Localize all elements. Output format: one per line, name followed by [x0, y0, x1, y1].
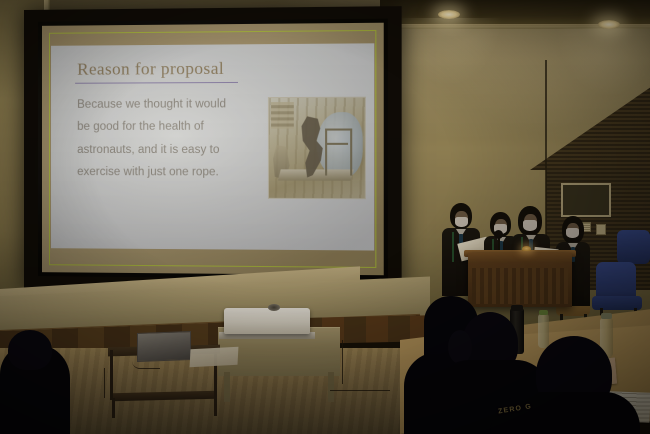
slide-body-text: Because we thought it would be good for … — [77, 93, 255, 184]
projection-screen-frame: Reason for proposal Because we thought i… — [24, 6, 402, 294]
ceiling-downlight-icon — [438, 10, 460, 19]
treadmill-rail — [325, 128, 352, 175]
cable — [104, 368, 131, 398]
cable — [316, 340, 343, 384]
slide-body-line: Because we thought it would — [77, 93, 255, 116]
face-mask — [566, 228, 579, 238]
projection-screen-surface: Reason for proposal Because we thought i… — [38, 19, 388, 280]
cable — [330, 382, 390, 391]
bottle-cap — [601, 313, 612, 319]
slide-content-area: Reason for proposal Because we thought i… — [51, 43, 374, 250]
desk-leg — [224, 372, 230, 402]
light-switch-icon[interactable] — [596, 224, 606, 235]
slide-body-line: be good for the health of — [77, 116, 255, 139]
plastic-bottle — [538, 314, 549, 348]
microphone-icon — [494, 230, 503, 239]
slide-title-underline — [75, 82, 238, 84]
treadmill-rail — [325, 143, 348, 145]
table-leg — [214, 396, 217, 416]
thermos-cap — [511, 305, 523, 311]
face-mask — [523, 220, 537, 231]
slide-image-astronaut-treadmill — [268, 97, 366, 200]
ceiling-downlight-icon — [598, 20, 620, 29]
podium-reading-lamp-icon — [522, 246, 531, 251]
projector-lens-icon — [268, 304, 280, 311]
cable — [132, 358, 160, 369]
lanyard — [452, 232, 454, 262]
wall-equipment-panel — [271, 102, 294, 129]
slide-body-line: exercise with just one rope. — [77, 161, 255, 184]
slide-title: Reason for proposal — [77, 59, 224, 80]
projector[interactable] — [224, 308, 310, 334]
hair-tie-bun — [448, 330, 472, 364]
table-leg — [112, 398, 115, 418]
photo-scene: Reason for proposal Because we thought i… — [0, 0, 650, 434]
audience-member-head-4 — [8, 330, 52, 370]
chair-blue[interactable] — [617, 230, 650, 264]
bottle-cap — [539, 310, 548, 315]
podium-panel-slats — [472, 268, 568, 304]
slide: Reason for proposal Because we thought i… — [42, 23, 384, 276]
face-mask — [455, 217, 468, 227]
papers-on-av-table — [190, 347, 239, 368]
slide-body-line: astronauts, and it is easy to — [77, 139, 255, 162]
framed-picture — [561, 183, 611, 217]
